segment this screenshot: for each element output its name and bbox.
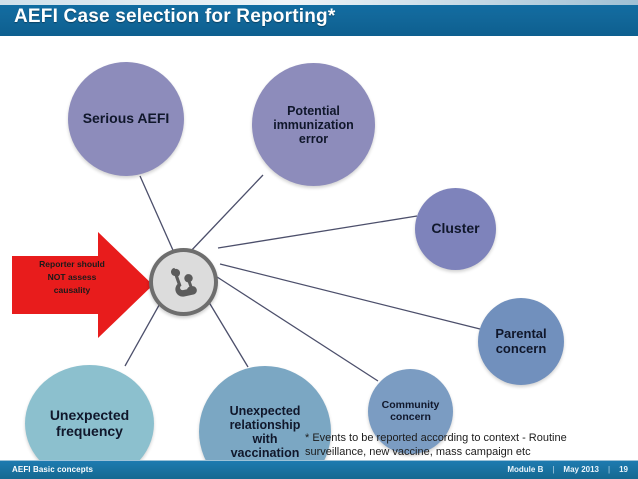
node-parental-line-2: concern — [495, 342, 546, 357]
node-parental-concern[interactable]: Parental concern — [478, 298, 564, 385]
page-title: AEFI Case selection for Reporting* — [14, 6, 335, 28]
footer-deck-label: AEFI Basic concepts — [12, 465, 93, 474]
footer-date: May 2013 — [563, 465, 599, 474]
node-community-line-2: concern — [382, 412, 440, 424]
node-frequency-line-1: Unexpected — [50, 408, 129, 424]
connector-to-potential — [189, 175, 263, 253]
node-cluster[interactable]: Cluster — [415, 188, 496, 270]
node-potential-immunization-error-label: Potential immunization error — [267, 104, 360, 146]
arrow-label-line-1: Reporter should — [22, 258, 122, 271]
connector-to-community — [214, 275, 378, 381]
center-hub — [149, 248, 218, 316]
node-relationship-line-3: with — [230, 432, 301, 446]
node-community-line-1: Community — [382, 400, 440, 412]
arrow-label-line-2: NOT assess — [22, 271, 122, 284]
node-community-concern-label: Community concern — [376, 400, 446, 424]
reporter-note-arrow: Reporter should NOT assess causality — [10, 230, 155, 340]
connector-to-parental — [220, 264, 480, 329]
node-cluster-label: Cluster — [425, 221, 485, 237]
node-relationship-line-2: relationship — [230, 418, 301, 432]
arrow-label-line-3: causality — [22, 284, 122, 297]
footer-module: Module B — [507, 465, 543, 474]
node-frequency-line-2: frequency — [50, 424, 129, 440]
node-parental-line-1: Parental — [495, 327, 546, 342]
connector-to-cluster — [218, 216, 417, 248]
node-potential-immunization-error[interactable]: Potential immunization error — [252, 63, 375, 186]
node-serious-aefi[interactable]: Serious AEFI — [68, 62, 184, 176]
slide-title-bar: AEFI Case selection for Reporting* — [0, 0, 638, 36]
node-unexpected-relationship-label: Unexpected relationship with vaccination — [224, 404, 307, 460]
slide: AEFI Case selection for Reporting* Repor… — [0, 0, 638, 479]
footer-meta: Module B | May 2013 | 19 — [507, 465, 628, 474]
telephone-icon — [164, 262, 204, 302]
footnote: * Events to be reported according to con… — [305, 432, 625, 460]
diagram-canvas: Reporter should NOT assess causality Ser… — [0, 36, 638, 460]
node-unexpected-frequency-label: Unexpected frequency — [44, 408, 135, 439]
node-relationship-line-1: Unexpected — [230, 404, 301, 418]
slide-footer-bar: AEFI Basic concepts Module B | May 2013 … — [0, 460, 638, 479]
footer-separator-1: | — [552, 465, 554, 474]
node-relationship-line-4: vaccination — [230, 446, 301, 460]
node-potential-line-1: Potential — [273, 104, 354, 118]
footer-page-number: 19 — [619, 465, 628, 474]
footer-separator-2: | — [608, 465, 610, 474]
node-parental-concern-label: Parental concern — [489, 327, 552, 356]
node-potential-line-2: immunization — [273, 118, 354, 132]
arrow-label: Reporter should NOT assess causality — [22, 258, 122, 296]
node-serious-aefi-label: Serious AEFI — [77, 111, 176, 127]
node-potential-line-3: error — [273, 132, 354, 146]
